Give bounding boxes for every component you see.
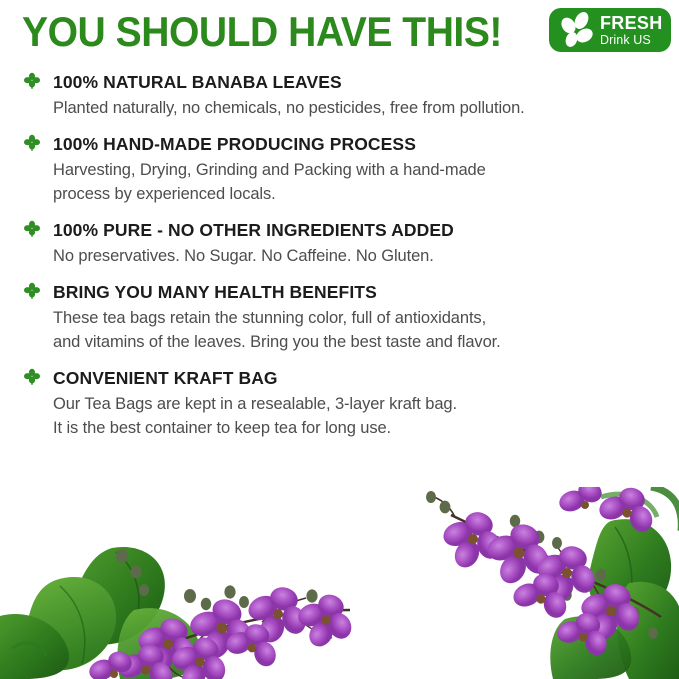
banaba-flower-cluster-left	[0, 498, 366, 679]
feature-description-line: and vitamins of the leaves. Bring you th…	[53, 330, 679, 354]
feature-heading-row: 100% PURE - NO OTHER INGREDIENTS ADDED	[0, 220, 679, 240]
feature-list: 100% NATURAL BANABA LEAVESPlanted natura…	[0, 72, 679, 454]
feature-item: CONVENIENT KRAFT BAGOur Tea Bags are kep…	[0, 368, 679, 440]
feature-description-line: process by experienced locals.	[53, 182, 679, 206]
logo-title: FRESH	[600, 14, 663, 32]
brand-logo-badge: FRESH Drink US	[549, 8, 671, 52]
feature-description: Planted naturally, no chemicals, no pest…	[0, 92, 679, 120]
clover-bullet-icon	[24, 220, 40, 238]
feature-heading-row: 100% HAND-MADE PRODUCING PROCESS	[0, 134, 679, 154]
feature-description-line: No preservatives. No Sugar. No Caffeine.…	[53, 244, 679, 268]
feature-item: 100% NATURAL BANABA LEAVESPlanted natura…	[0, 72, 679, 120]
feature-heading-row: CONVENIENT KRAFT BAG	[0, 368, 679, 388]
leaf-sprout-icon	[555, 10, 599, 50]
feature-description-line: It is the best container to keep tea for…	[53, 416, 679, 440]
feature-heading-row: 100% NATURAL BANABA LEAVES	[0, 72, 679, 92]
feature-item: 100% PURE - NO OTHER INGREDIENTS ADDEDNo…	[0, 220, 679, 268]
header-banner: YOU SHOULD HAVE THIS! FRESH Drink US	[0, 0, 679, 66]
feature-heading-row: BRING YOU MANY HEALTH BENEFITS	[0, 282, 679, 302]
logo-subtitle: Drink US	[600, 34, 663, 47]
logo-text-group: FRESH Drink US	[600, 14, 663, 47]
clover-bullet-icon	[24, 134, 40, 152]
feature-title: 100% PURE - NO OTHER INGREDIENTS ADDED	[53, 220, 454, 240]
feature-description: No preservatives. No Sugar. No Caffeine.…	[0, 240, 679, 268]
page-title: YOU SHOULD HAVE THIS!	[22, 8, 502, 56]
feature-description-line: These tea bags retain the stunning color…	[53, 306, 679, 330]
feature-description: Harvesting, Drying, Grinding and Packing…	[0, 154, 679, 206]
feature-description-line: Our Tea Bags are kept in a resealable, 3…	[53, 392, 679, 416]
clover-bullet-icon	[24, 72, 40, 90]
feature-title: 100% NATURAL BANABA LEAVES	[53, 72, 342, 92]
feature-item: 100% HAND-MADE PRODUCING PROCESSHarvesti…	[0, 134, 679, 206]
feature-description-line: Harvesting, Drying, Grinding and Packing…	[53, 158, 679, 182]
feature-description-line: Planted naturally, no chemicals, no pest…	[53, 96, 679, 120]
banaba-flower-cluster-right	[415, 487, 679, 679]
feature-description: Our Tea Bags are kept in a resealable, 3…	[0, 388, 679, 440]
feature-title: BRING YOU MANY HEALTH BENEFITS	[53, 282, 377, 302]
clover-bullet-icon	[24, 368, 40, 386]
feature-title: CONVENIENT KRAFT BAG	[53, 368, 278, 388]
floral-decoration-layer	[0, 498, 679, 679]
feature-description: These tea bags retain the stunning color…	[0, 302, 679, 354]
feature-item: BRING YOU MANY HEALTH BENEFITSThese tea …	[0, 282, 679, 354]
feature-title: 100% HAND-MADE PRODUCING PROCESS	[53, 134, 416, 154]
clover-bullet-icon	[24, 282, 40, 300]
